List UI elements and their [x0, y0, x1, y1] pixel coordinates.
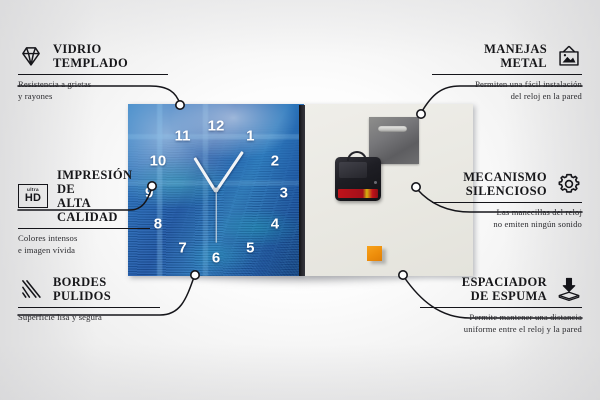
- feature-underline: [432, 202, 582, 203]
- feature-underline: [18, 74, 168, 75]
- feature-description: Colores intensos e imagen vívida: [18, 233, 150, 256]
- wall-frame-icon: [556, 43, 582, 69]
- feature-silent-mechanism: MECANISMO SILENCIOSO Las manecillas del …: [432, 170, 582, 230]
- feature-header: BORDES PULIDOS: [18, 275, 160, 303]
- feature-header: VIDRIO TEMPLADO: [18, 42, 168, 70]
- feature-hd-print: ultra HD IMPRESIÓN DE ALTA CALIDAD Color…: [18, 168, 150, 256]
- feature-header: ESPACIADOR DE ESPUMA: [420, 275, 582, 303]
- feature-underline: [18, 307, 160, 308]
- connector-dot-silent-mechanism: [412, 183, 420, 191]
- feature-description: Superficie lisa y segura: [18, 312, 160, 323]
- feature-underline: [432, 74, 582, 75]
- ultra-hd-icon: ultra HD: [18, 184, 48, 208]
- polished-edges-icon: [18, 276, 44, 302]
- connector-dot-tempered-glass: [176, 101, 184, 109]
- feature-title: BORDES PULIDOS: [53, 275, 111, 303]
- feature-description: Permite mantener una distancia uniforme …: [420, 312, 582, 335]
- connector-dot-foam-spacer: [399, 271, 407, 279]
- feature-foam-spacer: ESPACIADOR DE ESPUMA Permite mantener un…: [420, 275, 582, 335]
- infographic-stage: 12 1 2 3 4 5 6 7 8 9 10 11: [0, 0, 600, 400]
- feature-header: MANEJAS METAL: [432, 42, 582, 70]
- feature-underline: [420, 307, 582, 308]
- feature-metal-handles: MANEJAS METAL Permiten una fácil instala…: [432, 42, 582, 102]
- feature-underline: [18, 228, 150, 229]
- feature-description: Resistencia a grietas y rayones: [18, 79, 168, 102]
- connector-dot-polished-edges: [191, 271, 199, 279]
- foam-spacer-icon: [556, 276, 582, 302]
- feature-polished-edges: BORDES PULIDOS Superficie lisa y segura: [18, 275, 160, 324]
- feature-title: MECANISMO SILENCIOSO: [463, 170, 547, 198]
- feature-title: ESPACIADOR DE ESPUMA: [462, 275, 547, 303]
- feature-title: VIDRIO TEMPLADO: [53, 42, 128, 70]
- diamond-icon: [18, 43, 44, 69]
- feature-header: ultra HD IMPRESIÓN DE ALTA CALIDAD: [18, 168, 150, 224]
- feature-title: IMPRESIÓN DE ALTA CALIDAD: [57, 168, 150, 224]
- feature-tempered-glass: VIDRIO TEMPLADO Resistencia a grietas y …: [18, 42, 168, 102]
- feature-header: MECANISMO SILENCIOSO: [432, 170, 582, 198]
- feature-description: Permiten una fácil instalación del reloj…: [432, 79, 582, 102]
- connector-dot-metal-handles: [417, 110, 425, 118]
- feature-title: MANEJAS METAL: [484, 42, 547, 70]
- gear-icon: [556, 171, 582, 197]
- feature-description: Las manecillas del reloj no emiten ningú…: [432, 207, 582, 230]
